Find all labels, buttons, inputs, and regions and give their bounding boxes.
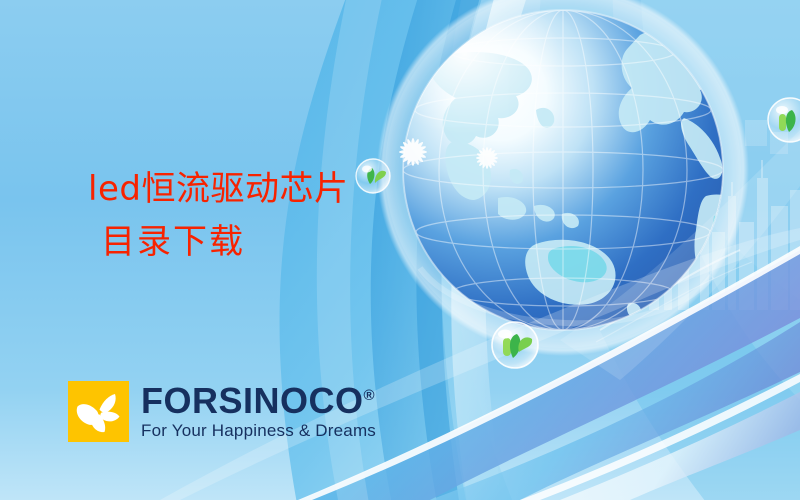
sparkle-star-large <box>399 138 427 166</box>
bubble-sprout-medium <box>492 322 538 368</box>
registered-trademark-icon: ® <box>364 387 375 404</box>
brand-wordmark: FORSINOCO® For Your Happiness & Dreams <box>141 384 376 438</box>
bubble-sprout-edge <box>768 98 800 142</box>
page-headline: led恒流驱动芯片 目录下载 <box>88 163 348 268</box>
brand-logo-lockup[interactable]: FORSINOCO® For Your Happiness & Dreams <box>68 381 376 442</box>
sparkle-star-small <box>476 147 498 169</box>
bubble-sprout-small <box>356 159 390 193</box>
brand-name-text: FORSINOCO <box>141 380 364 421</box>
promotional-banner: led恒流驱动芯片 目录下载 FORSINOCO® <box>0 0 800 500</box>
headline-line-2: 目录下载 <box>88 216 348 269</box>
forsinoco-pinwheel-flower-mark <box>68 381 129 442</box>
brand-name: FORSINOCO® <box>141 384 376 418</box>
brand-tagline: For Your Happiness & Dreams <box>141 422 376 439</box>
headline-line-1: led恒流驱动芯片 <box>88 163 348 216</box>
